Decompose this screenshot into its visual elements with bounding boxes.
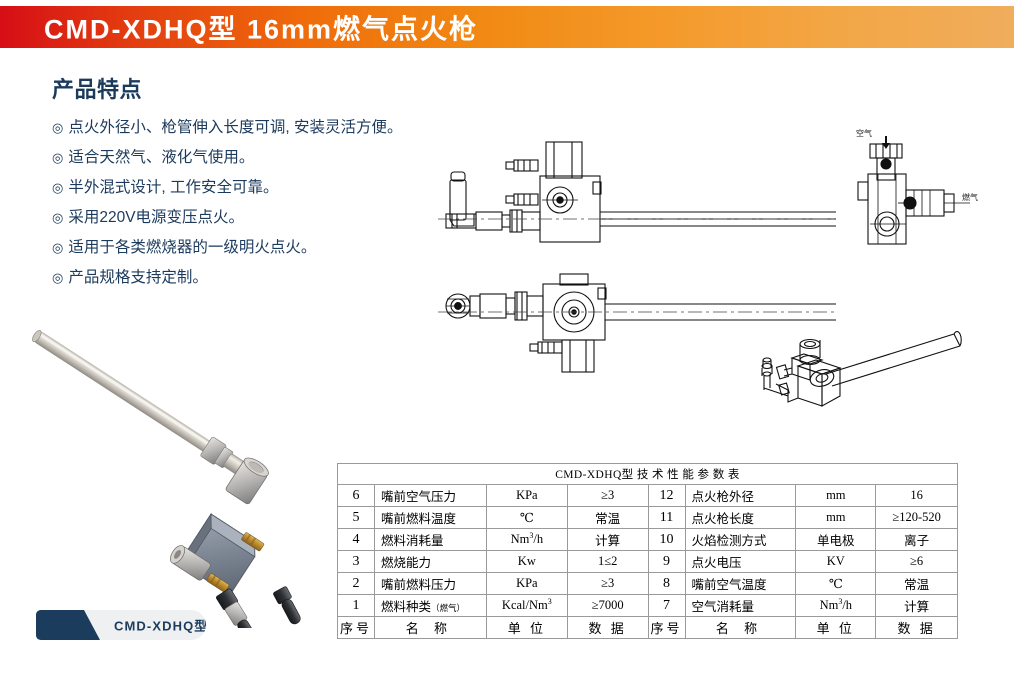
feature-item: ◎半外混式设计, 工作安全可靠。 bbox=[52, 173, 432, 203]
spec-right-index: 12 bbox=[648, 485, 685, 507]
spec-footer-left-unit: 单 位 bbox=[486, 617, 567, 639]
spec-left-name: 嘴前燃料压力 bbox=[375, 573, 487, 595]
feature-item: ◎采用220V电源变压点火。 bbox=[52, 203, 432, 233]
spec-footer-right-data: 数 据 bbox=[876, 617, 958, 639]
spec-right-data: 常温 bbox=[876, 573, 958, 595]
spec-right-data: 16 bbox=[876, 485, 958, 507]
spec-footer-left-idx: 序号 bbox=[338, 617, 375, 639]
table-row: 6嘴前空气压力KPa≥312点火枪外径mm16 bbox=[338, 485, 958, 507]
technical-drawing-top-view: 空气 燃气 bbox=[852, 118, 1002, 263]
feature-item-label: 适合天然气、液化气使用。 bbox=[68, 143, 254, 173]
technical-drawing-isometric-view bbox=[748, 318, 983, 415]
spec-left-index: 3 bbox=[338, 551, 375, 573]
spec-left-index: 6 bbox=[338, 485, 375, 507]
spec-left-unit: ℃ bbox=[486, 507, 567, 529]
spec-left-data: ≥7000 bbox=[567, 595, 648, 617]
bullet-icon: ◎ bbox=[52, 233, 63, 263]
bullet-icon: ◎ bbox=[52, 113, 63, 143]
product-features-section: 产品特点 ◎点火外径小、枪管伸入长度可调, 安装灵活方便。◎适合天然气、液化气使… bbox=[52, 72, 432, 293]
spec-left-index: 2 bbox=[338, 573, 375, 595]
spec-left-unit: KPa bbox=[486, 573, 567, 595]
bullet-icon: ◎ bbox=[52, 173, 63, 203]
spec-left-data: 计算 bbox=[567, 529, 648, 551]
bullet-icon: ◎ bbox=[52, 203, 63, 233]
spec-left-index: 4 bbox=[338, 529, 375, 551]
bullet-icon: ◎ bbox=[52, 143, 63, 173]
spec-right-name: 空气消耗量 bbox=[685, 595, 796, 617]
spec-table-footer-row: 序号名 称单 位数 据序号名 称单 位数 据 bbox=[338, 617, 958, 639]
spec-right-index: 11 bbox=[648, 507, 685, 529]
spec-footer-right-name: 名 称 bbox=[685, 617, 796, 639]
spec-right-name: 点火枪长度 bbox=[685, 507, 796, 529]
page-title: CMD-XDHQ型 16mm燃气点火枪 bbox=[44, 8, 478, 47]
bullet-icon: ◎ bbox=[52, 263, 63, 293]
spec-left-index: 5 bbox=[338, 507, 375, 529]
spec-right-unit: ℃ bbox=[796, 573, 876, 595]
badge-label: CMD-XDHQ型 bbox=[114, 616, 206, 635]
table-row: 4燃料消耗量Nm3/h计算10火焰检测方式单电极离子 bbox=[338, 529, 958, 551]
spec-right-index: 7 bbox=[648, 595, 685, 617]
spec-right-index: 9 bbox=[648, 551, 685, 573]
spec-left-data: 1≤2 bbox=[567, 551, 648, 573]
drawing-label-gas: 燃气 bbox=[962, 192, 978, 202]
feature-item-label: 适用于各类燃烧器的一级明火点火。 bbox=[68, 233, 316, 263]
spec-left-name: 燃料消耗量 bbox=[375, 529, 487, 551]
spec-right-name: 嘴前空气温度 bbox=[685, 573, 796, 595]
spec-right-data: 计算 bbox=[876, 595, 958, 617]
spec-right-unit: Nm3/h bbox=[796, 595, 876, 617]
feature-item: ◎适合天然气、液化气使用。 bbox=[52, 143, 432, 173]
drawing-label-air: 空气 bbox=[856, 128, 872, 138]
technical-drawing-side-view bbox=[438, 138, 838, 273]
spec-left-data: ≥3 bbox=[567, 485, 648, 507]
spec-right-name: 点火电压 bbox=[685, 551, 796, 573]
spec-left-data: ≥3 bbox=[567, 573, 648, 595]
spec-footer-left-data: 数 据 bbox=[567, 617, 648, 639]
spec-left-unit: Nm3/h bbox=[486, 529, 567, 551]
spec-right-data: ≥120-520 bbox=[876, 507, 958, 529]
table-row: 1燃料种类（燃气）Kcal/Nm3≥70007空气消耗量Nm3/h计算 bbox=[338, 595, 958, 617]
spec-right-data: ≥6 bbox=[876, 551, 958, 573]
table-row: 5嘴前燃料温度℃常温11点火枪长度mm≥120-520 bbox=[338, 507, 958, 529]
feature-item: ◎产品规格支持定制。 bbox=[52, 263, 432, 293]
features-heading: 产品特点 bbox=[52, 72, 432, 104]
spec-left-name: 嘴前空气压力 bbox=[375, 485, 487, 507]
spec-right-data: 离子 bbox=[876, 529, 958, 551]
spec-left-data: 常温 bbox=[567, 507, 648, 529]
spec-right-index: 8 bbox=[648, 573, 685, 595]
spec-left-unit: Kcal/Nm3 bbox=[486, 595, 567, 617]
spec-left-index: 1 bbox=[338, 595, 375, 617]
spec-right-unit: mm bbox=[796, 507, 876, 529]
spec-left-name: 燃料种类（燃气） bbox=[375, 595, 487, 617]
table-row: 3燃烧能力Kw1≤29点火电压KV≥6 bbox=[338, 551, 958, 573]
spec-left-name: 燃烧能力 bbox=[375, 551, 487, 573]
badge-accent-shape bbox=[36, 610, 100, 640]
feature-item-label: 采用220V电源变压点火。 bbox=[68, 203, 244, 233]
spec-table-container: CMD-XDHQ型 技 术 性 能 参 数 表6嘴前空气压力KPa≥312点火枪… bbox=[337, 463, 958, 639]
spec-right-unit: KV bbox=[796, 551, 876, 573]
spec-footer-left-name: 名 称 bbox=[375, 617, 487, 639]
feature-item-label: 产品规格支持定制。 bbox=[68, 263, 208, 293]
spec-table-title: CMD-XDHQ型 技 术 性 能 参 数 表 bbox=[338, 464, 958, 485]
spec-right-name: 火焰检测方式 bbox=[685, 529, 796, 551]
spec-left-unit: KPa bbox=[486, 485, 567, 507]
spec-left-unit: Kw bbox=[486, 551, 567, 573]
table-row: 2嘴前燃料压力KPa≥38嘴前空气温度℃常温 bbox=[338, 573, 958, 595]
spec-right-index: 10 bbox=[648, 529, 685, 551]
spec-table: CMD-XDHQ型 技 术 性 能 参 数 表6嘴前空气压力KPa≥312点火枪… bbox=[337, 463, 958, 639]
feature-item-label: 半外混式设计, 工作安全可靠。 bbox=[68, 173, 278, 203]
feature-item-label: 点火外径小、枪管伸入长度可调, 安装灵活方便。 bbox=[68, 113, 402, 143]
spec-left-name: 嘴前燃料温度 bbox=[375, 507, 487, 529]
spec-right-unit: mm bbox=[796, 485, 876, 507]
spec-footer-right-idx: 序号 bbox=[648, 617, 685, 639]
model-badge: CMD-XDHQ型 bbox=[36, 610, 206, 640]
feature-item: ◎点火外径小、枪管伸入长度可调, 安装灵活方便。 bbox=[52, 113, 432, 143]
spec-right-name: 点火枪外径 bbox=[685, 485, 796, 507]
spec-table-title-row: CMD-XDHQ型 技 术 性 能 参 数 表 bbox=[338, 464, 958, 485]
feature-item: ◎适用于各类燃烧器的一级明火点火。 bbox=[52, 233, 432, 263]
product-photo bbox=[18, 318, 328, 628]
spec-right-unit: 单电极 bbox=[796, 529, 876, 551]
page-header-banner: CMD-XDHQ型 16mm燃气点火枪 bbox=[0, 6, 1014, 48]
features-list: ◎点火外径小、枪管伸入长度可调, 安装灵活方便。◎适合天然气、液化气使用。◎半外… bbox=[52, 113, 432, 293]
spec-footer-right-unit: 单 位 bbox=[796, 617, 876, 639]
